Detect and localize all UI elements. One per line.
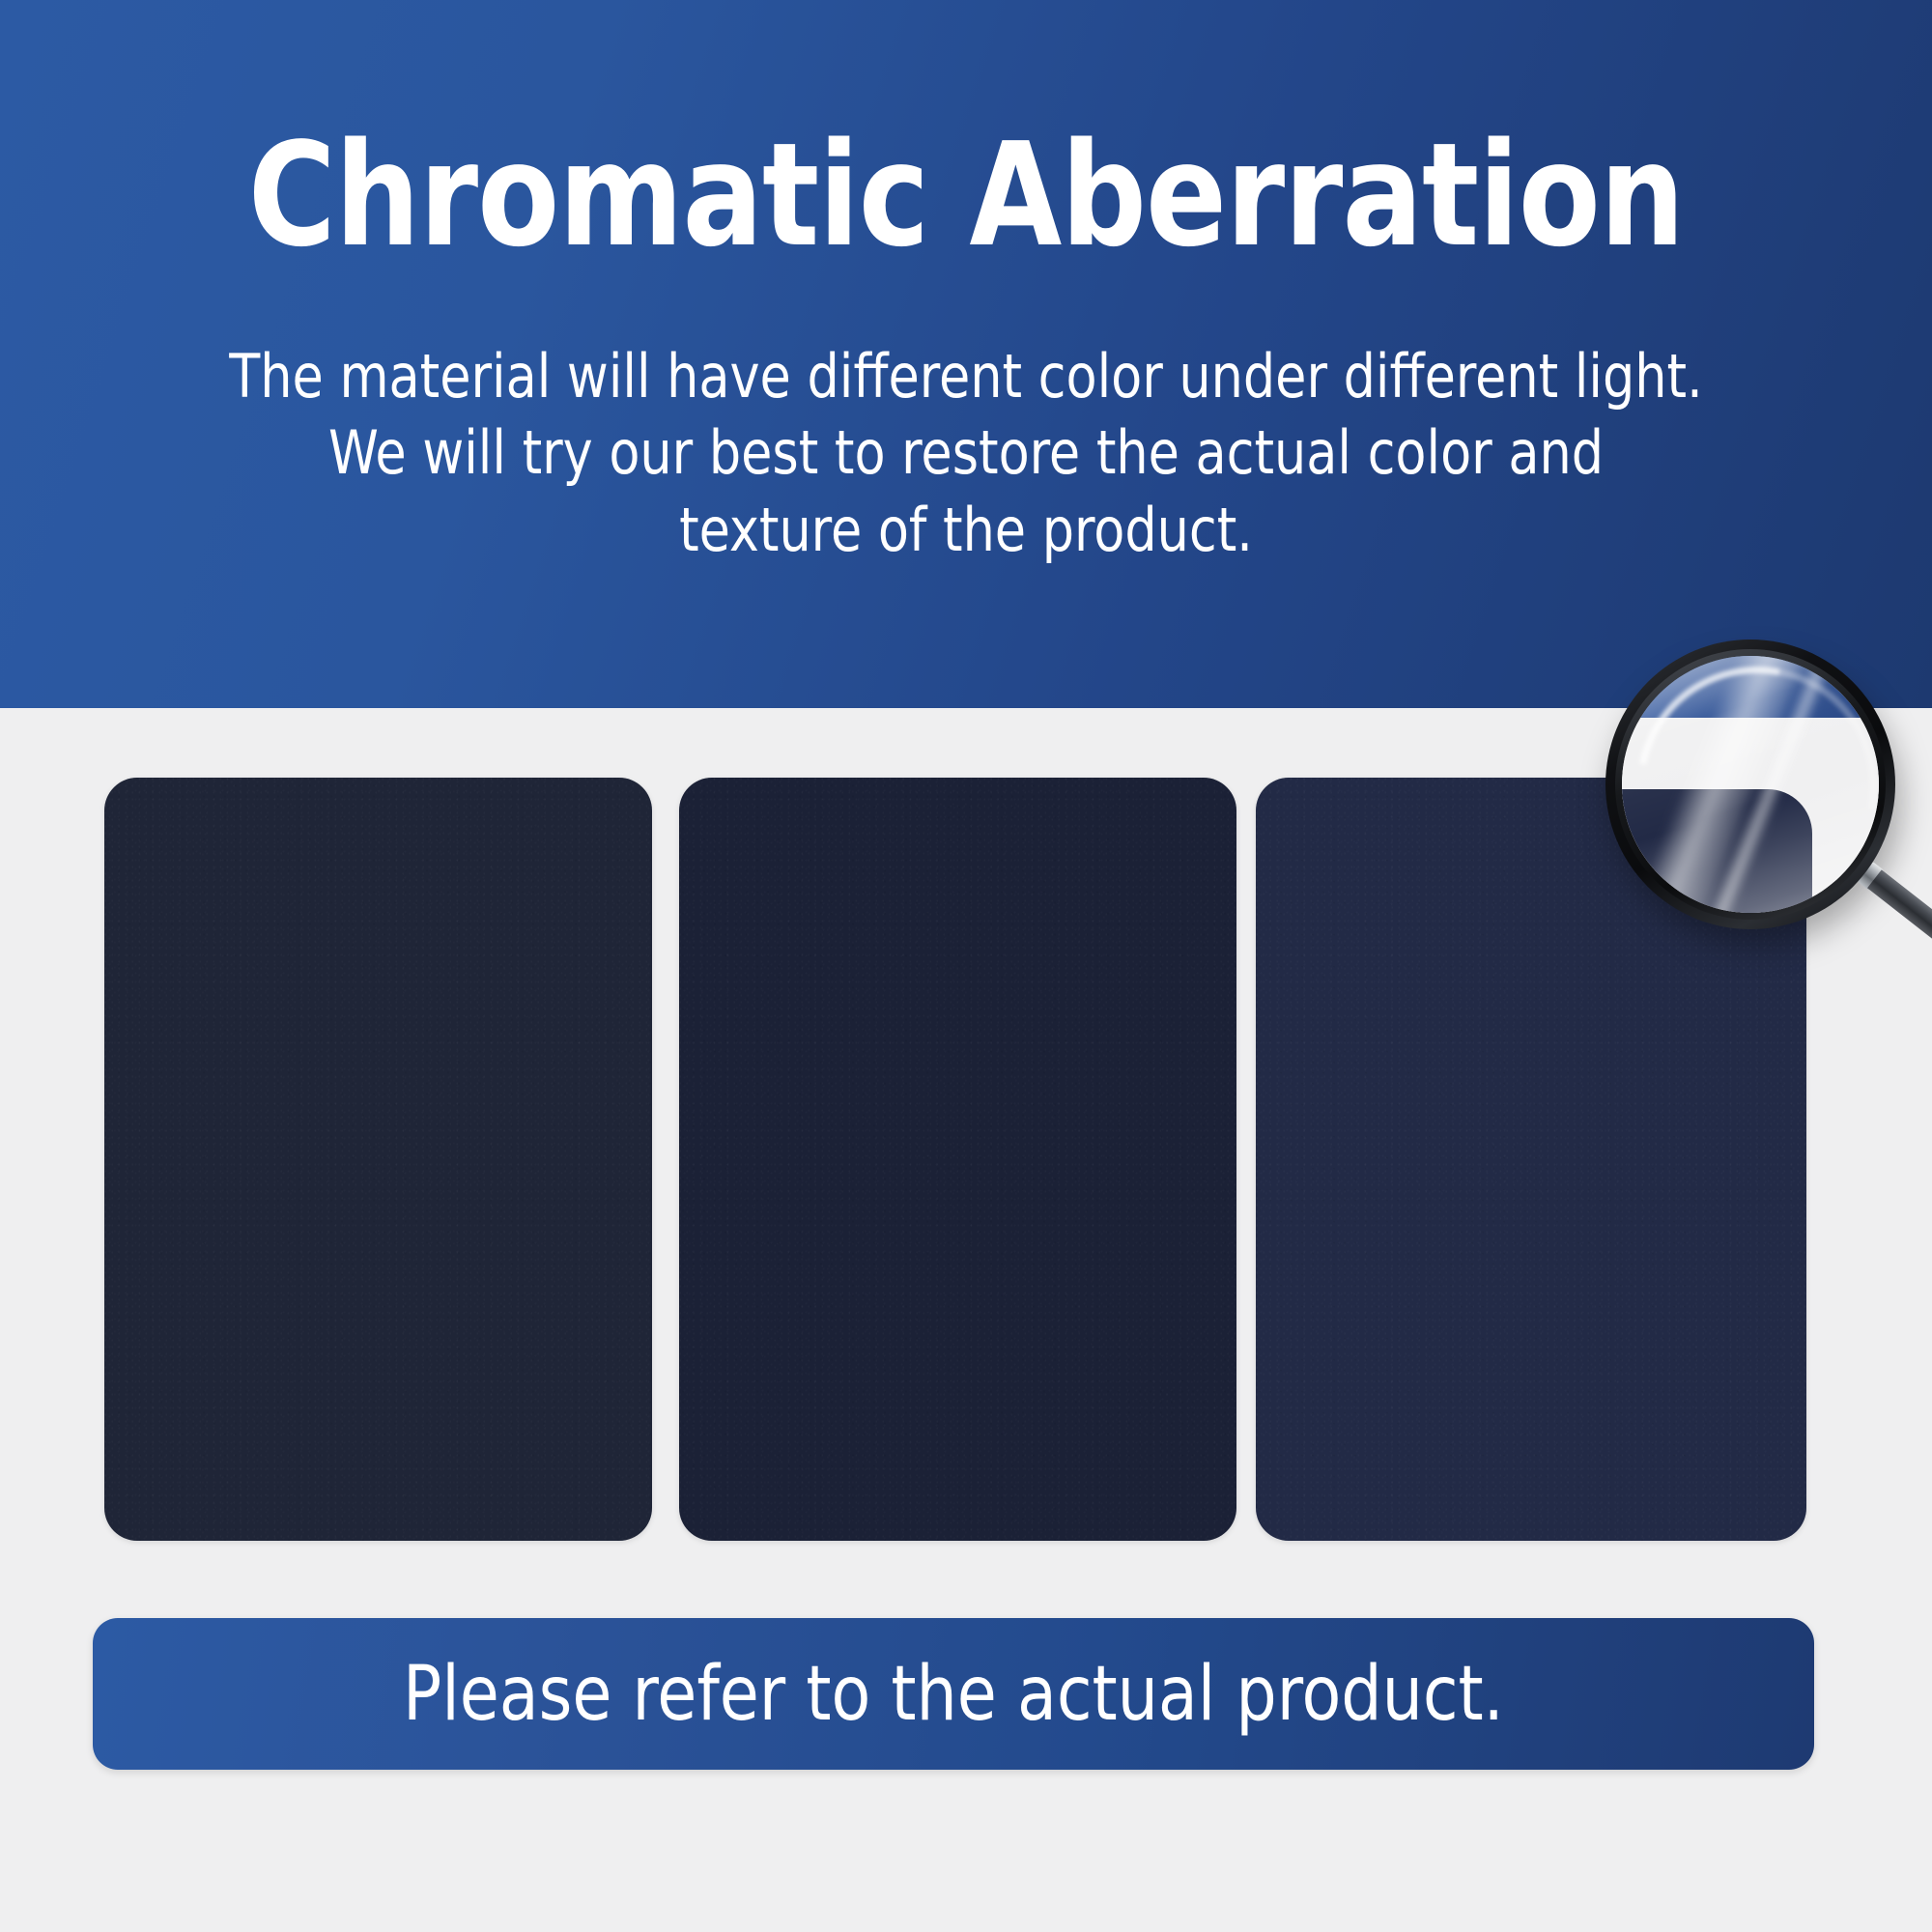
magnifier-handle (1829, 839, 1932, 949)
header-subtitle-line-3: texture of the product. (157, 492, 1774, 568)
page-title: Chromatic Aberration (68, 124, 1864, 267)
magnifier-grip (1867, 869, 1932, 947)
header-subtitle: The material will have different color u… (157, 338, 1774, 568)
header-subtitle-line-2: We will try our best to restore the actu… (157, 414, 1774, 491)
infographic-canvas: Chromatic Aberration The material will h… (0, 0, 1932, 1932)
header-banner: Chromatic Aberration The material will h… (0, 0, 1932, 708)
header-subtitle-line-1: The material will have different color u… (157, 338, 1774, 414)
color-swatch-2 (679, 778, 1236, 1541)
color-swatch-1 (104, 778, 652, 1541)
magnifier-ferrule (1830, 840, 1878, 885)
color-swatch-3 (1256, 778, 1806, 1541)
magnifier-ferrule-band (1856, 861, 1885, 892)
footer-banner-text: Please refer to the actual product. (403, 1657, 1504, 1732)
footer-banner: Please refer to the actual product. (93, 1618, 1814, 1770)
color-swatch-row (104, 778, 1806, 1541)
